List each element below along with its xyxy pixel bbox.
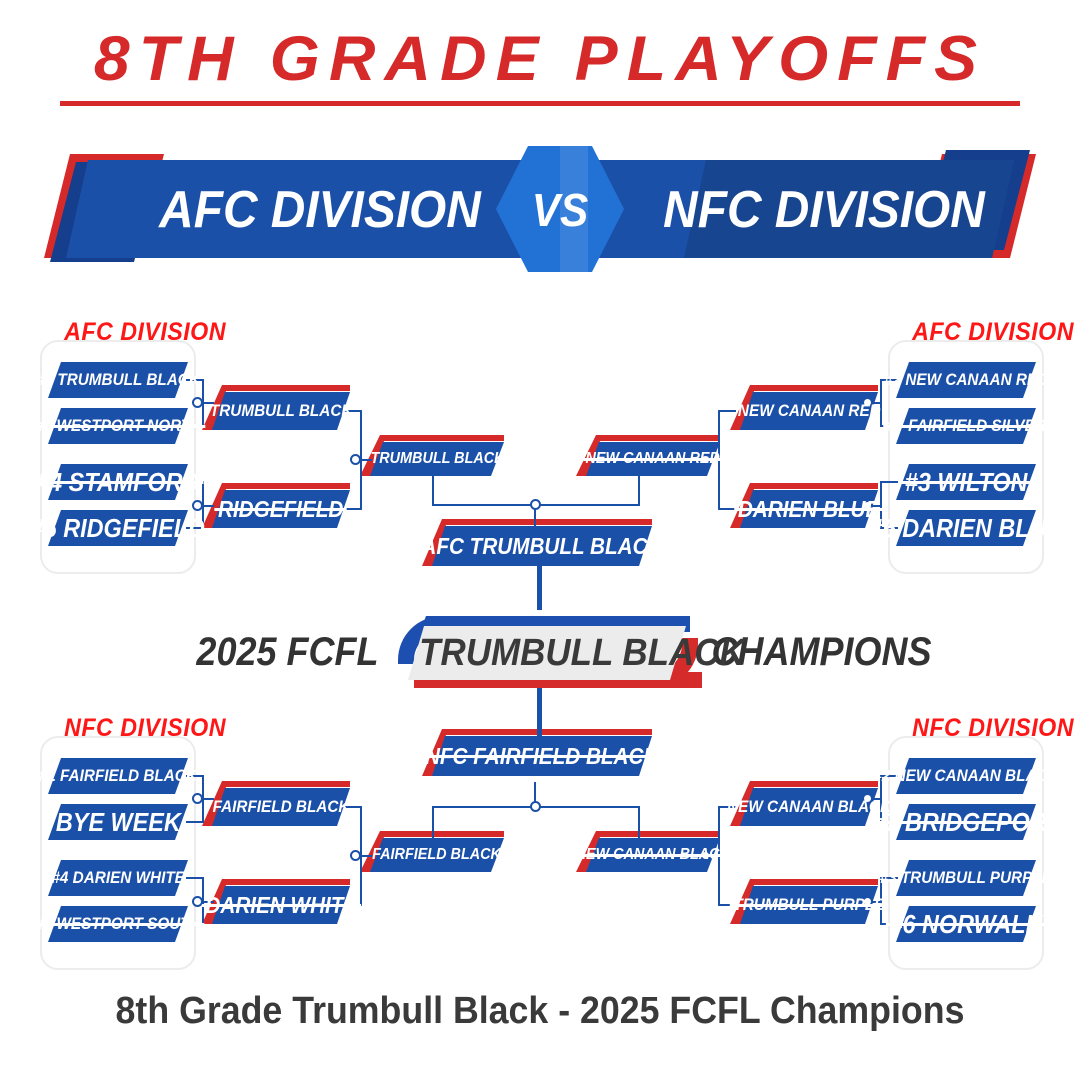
team-label: NEW CANAAN BLACK — [722, 797, 897, 817]
banner-afc-label: AFC DIVISION — [154, 176, 485, 244]
page-caption: 8th Grade Trumbull Black - 2025 FCFL Cha… — [32, 990, 1047, 1033]
team-label: NEW CANAAN BLACK — [570, 846, 735, 864]
team-label: #4 DARIEN WHITE — [46, 868, 190, 888]
connector-line — [638, 476, 640, 506]
team-label: FAIRFIELD BLACK — [207, 797, 355, 817]
afc-seed-1[interactable]: #1 TRUMBULL BLACK — [48, 362, 188, 398]
nfc-semifinal-left[interactable]: FAIRFIELD BLACK — [370, 838, 504, 872]
afc-seed-2[interactable]: #2 NEW CANAAN RED — [896, 362, 1036, 398]
team-label: RIDGEFIELD — [213, 496, 349, 523]
afc-seed-6[interactable]: #6 DARIEN BLUE — [896, 510, 1036, 546]
afc-seed-7[interactable]: #7 FAIRFIELD SILVER — [896, 408, 1036, 444]
afc-round2-top-right[interactable]: NEW CANAAN RED — [740, 392, 878, 430]
banner-vs-label: VS — [501, 178, 619, 242]
team-label: #3 TRUMBULL PURPLE — [874, 868, 1057, 888]
connector-line — [186, 821, 204, 823]
nfc-left-division-label: NFC DIVISION — [64, 714, 226, 743]
page-title: 8TH GRADE PLAYOFFS — [0, 28, 1080, 106]
team-label: #7 FAIRFIELD SILVER — [881, 416, 1051, 436]
afc-seed-8[interactable]: #8 WESTPORT NORTH — [48, 408, 188, 444]
nfc-seed-1[interactable]: #1 FAIRFIELD BLACK — [48, 758, 188, 794]
nfc-bye-week[interactable]: BYE WEEK — [48, 804, 188, 840]
connector-node — [192, 500, 203, 511]
nfc-division-champion[interactable]: NFC FAIRFIELD BLACK — [432, 736, 652, 776]
afc-seed-5[interactable]: #5 RIDGEFIELD — [48, 510, 188, 546]
afc-semifinal-left[interactable]: TRUMBULL BLACK — [370, 442, 504, 476]
title-underline — [60, 101, 1020, 106]
afc-left-division-label: AFC DIVISION — [64, 318, 226, 347]
afc-seed-4[interactable]: #4 STAMFORD — [48, 464, 188, 500]
team-label: #8 WESTPORT NORTH — [30, 416, 207, 436]
team-label: #2 NEW CANAAN RED — [879, 370, 1054, 390]
afc-right-division-label: AFC DIVISION — [912, 318, 1074, 347]
connector-node — [192, 793, 203, 804]
connector-node — [350, 850, 361, 861]
nfc-seed-2[interactable]: #2 NEW CANAAN BLACK — [896, 758, 1036, 794]
connector-node — [530, 499, 541, 510]
afc-round2-top-left[interactable]: TRUMBULL BLACK — [212, 392, 350, 430]
nfc-round2-top-right[interactable]: NEW CANAAN BLACK — [740, 788, 878, 826]
team-label: #6 NORWALK — [884, 909, 1048, 940]
connector-line — [432, 476, 434, 506]
team-label: TRUMBULL BLACK — [204, 401, 357, 421]
afc-semifinal-right[interactable]: NEW CANAAN RED — [586, 442, 720, 476]
final-trunk-top — [537, 566, 542, 610]
team-label: NEW CANAAN RED — [580, 450, 725, 468]
team-label: NEW CANAAN RED — [732, 401, 886, 421]
nfc-seed-4[interactable]: #4 DARIEN WHITE — [48, 860, 188, 896]
nfc-seed-3[interactable]: #3 TRUMBULL PURPLE — [896, 860, 1036, 896]
final-year-label: 2025 FCFL — [172, 624, 379, 680]
team-label: BYE WEEK — [50, 807, 186, 838]
champion-banner: TRUMBULL BLACK — [380, 608, 700, 696]
connector-node — [530, 801, 541, 812]
afc-seed-3[interactable]: #3 WILTON — [896, 464, 1036, 500]
team-label: #3 WILTON — [899, 467, 1032, 498]
connector-node — [350, 454, 361, 465]
team-label: NFC FAIRFIELD BLACK — [420, 743, 664, 770]
nfc-seed-5[interactable]: #5 WESTPORT SOUTH — [48, 906, 188, 942]
afc-round2-bottom-right[interactable]: DARIEN BLUE — [740, 490, 878, 528]
connector-line — [638, 806, 640, 838]
nfc-right-division-label: NFC DIVISION — [912, 714, 1074, 743]
team-label: TRUMBULL BLACK — [365, 450, 510, 468]
team-label: #5 RIDGEFIELD — [25, 513, 210, 544]
team-label: #6 DARIEN BLUE — [864, 513, 1067, 544]
team-label: DARIEN WHITE — [200, 892, 363, 919]
nfc-seed-7[interactable]: #7 BRIDGEPORT — [896, 804, 1036, 840]
connector-line — [880, 481, 898, 483]
team-label: #4 STAMFORD — [31, 467, 205, 498]
team-label: #1 TRUMBULL BLACK — [31, 370, 206, 390]
page-title-text: 8TH GRADE PLAYOFFS — [0, 28, 1080, 91]
connector-node — [192, 397, 203, 408]
team-label: #2 NEW CANAAN BLACK — [868, 766, 1064, 786]
team-label: DARIEN BLUE — [733, 496, 885, 523]
team-label: #5 WESTPORT SOUTH — [30, 914, 206, 934]
division-vs-banner: AFC DIVISION VS NFC DIVISION — [44, 146, 1036, 272]
nfc-round2-bottom-right[interactable]: TRUMBULL PURPLE — [740, 886, 878, 924]
nfc-semifinal-right[interactable]: NEW CANAAN BLACK — [586, 838, 720, 872]
team-label: AFC TRUMBULL BLACK — [416, 533, 668, 560]
champion-name: TRUMBULL BLACK — [419, 626, 675, 680]
afc-division-champion[interactable]: AFC TRUMBULL BLACK — [432, 526, 652, 566]
team-label: FAIRFIELD BLACK — [367, 846, 507, 864]
afc-round2-bottom-left[interactable]: RIDGEFIELD — [212, 490, 350, 528]
nfc-seed-6[interactable]: #6 NORWALK — [896, 906, 1036, 942]
nfc-round2-top-left[interactable]: FAIRFIELD BLACK — [212, 788, 350, 826]
team-label: TRUMBULL PURPLE — [728, 895, 890, 915]
banner-nfc-label: NFC DIVISION — [649, 176, 999, 244]
nfc-round2-bottom-left[interactable]: DARIEN WHITE — [212, 886, 350, 924]
final-champion-row: 2025 FCFL TRUMBULL BLACK CHAMPIONS — [0, 608, 1080, 696]
connector-line — [432, 806, 434, 838]
team-label: #1 FAIRFIELD BLACK — [34, 766, 203, 786]
